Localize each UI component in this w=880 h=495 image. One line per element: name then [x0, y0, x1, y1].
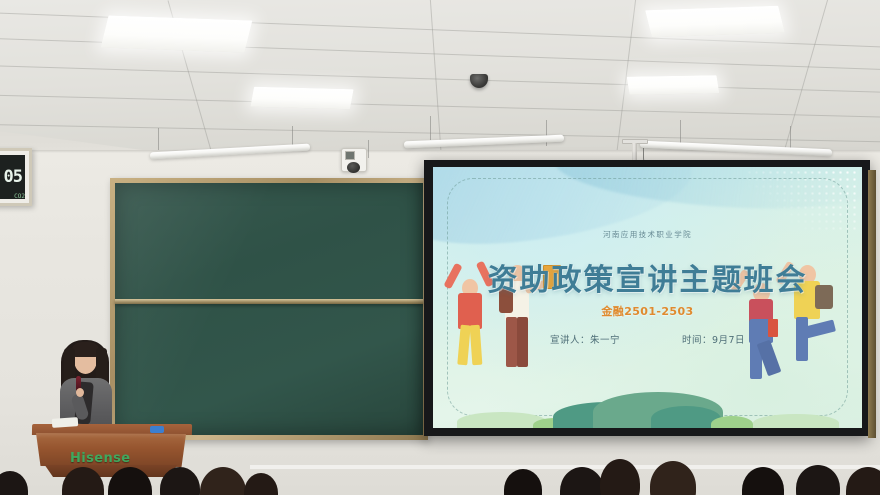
screen-side-trim	[868, 170, 876, 438]
blackboard-divider-rail	[115, 299, 423, 304]
audience-head	[742, 467, 784, 495]
slide-presenter-label: 宣讲人：朱一宁	[550, 332, 620, 346]
audience-head	[560, 467, 604, 495]
classroom-scene: 05 CO2	[0, 0, 880, 495]
slide-decor-foliage	[433, 380, 862, 428]
wall-camera-screen	[345, 151, 355, 160]
device-cable	[368, 140, 369, 158]
blackboard-surface	[115, 183, 423, 435]
podium-blue-object	[150, 426, 164, 433]
blackboard	[110, 178, 428, 440]
slide-institution-label: 河南应用技术职业学院	[433, 229, 862, 240]
slide-meta-row: 宣讲人：朱一宁 时间：9月7日	[433, 332, 862, 346]
audience-head	[160, 467, 200, 495]
clock-sub-readout: CO2	[14, 193, 25, 200]
ceiling-panel-light	[250, 87, 353, 110]
audience-head	[650, 461, 696, 495]
audience-head	[108, 467, 152, 495]
audience	[0, 437, 880, 495]
light-wire	[680, 120, 681, 144]
podium-paper	[52, 417, 79, 428]
audience-head	[846, 467, 880, 495]
ceiling-panel-light	[645, 6, 785, 38]
audience-head	[504, 469, 542, 495]
slide-date-label: 时间：9月7日	[682, 332, 745, 346]
ceiling-panel-light	[101, 15, 253, 52]
slide-subtitle-class: 金融2501-2503	[433, 303, 862, 319]
presentation-slide: 河南应用技术职业学院 资助政策宣讲主题班会 金融2501-2503 宣讲人：朱一…	[433, 167, 862, 428]
slide-title: 资助政策宣讲主题班会	[433, 255, 862, 299]
audience-head	[600, 459, 640, 495]
clock-digits: 05	[4, 169, 22, 186]
presenter-hand	[76, 388, 84, 397]
audience-head	[244, 473, 278, 495]
audience-head	[796, 465, 840, 495]
projection-screen: 河南应用技术职业学院 资助政策宣讲主题班会 金融2501-2503 宣讲人：朱一…	[424, 160, 870, 436]
light-wire	[158, 128, 159, 150]
ceiling-panel-light	[627, 75, 720, 95]
audience-head	[0, 471, 28, 495]
blackboard-glare	[115, 183, 423, 435]
digital-wall-clock: 05 CO2	[0, 148, 32, 206]
wall-camera-lens-icon	[347, 162, 360, 173]
audience-head	[200, 467, 246, 495]
light-wire	[430, 116, 431, 140]
audience-head	[62, 467, 104, 495]
